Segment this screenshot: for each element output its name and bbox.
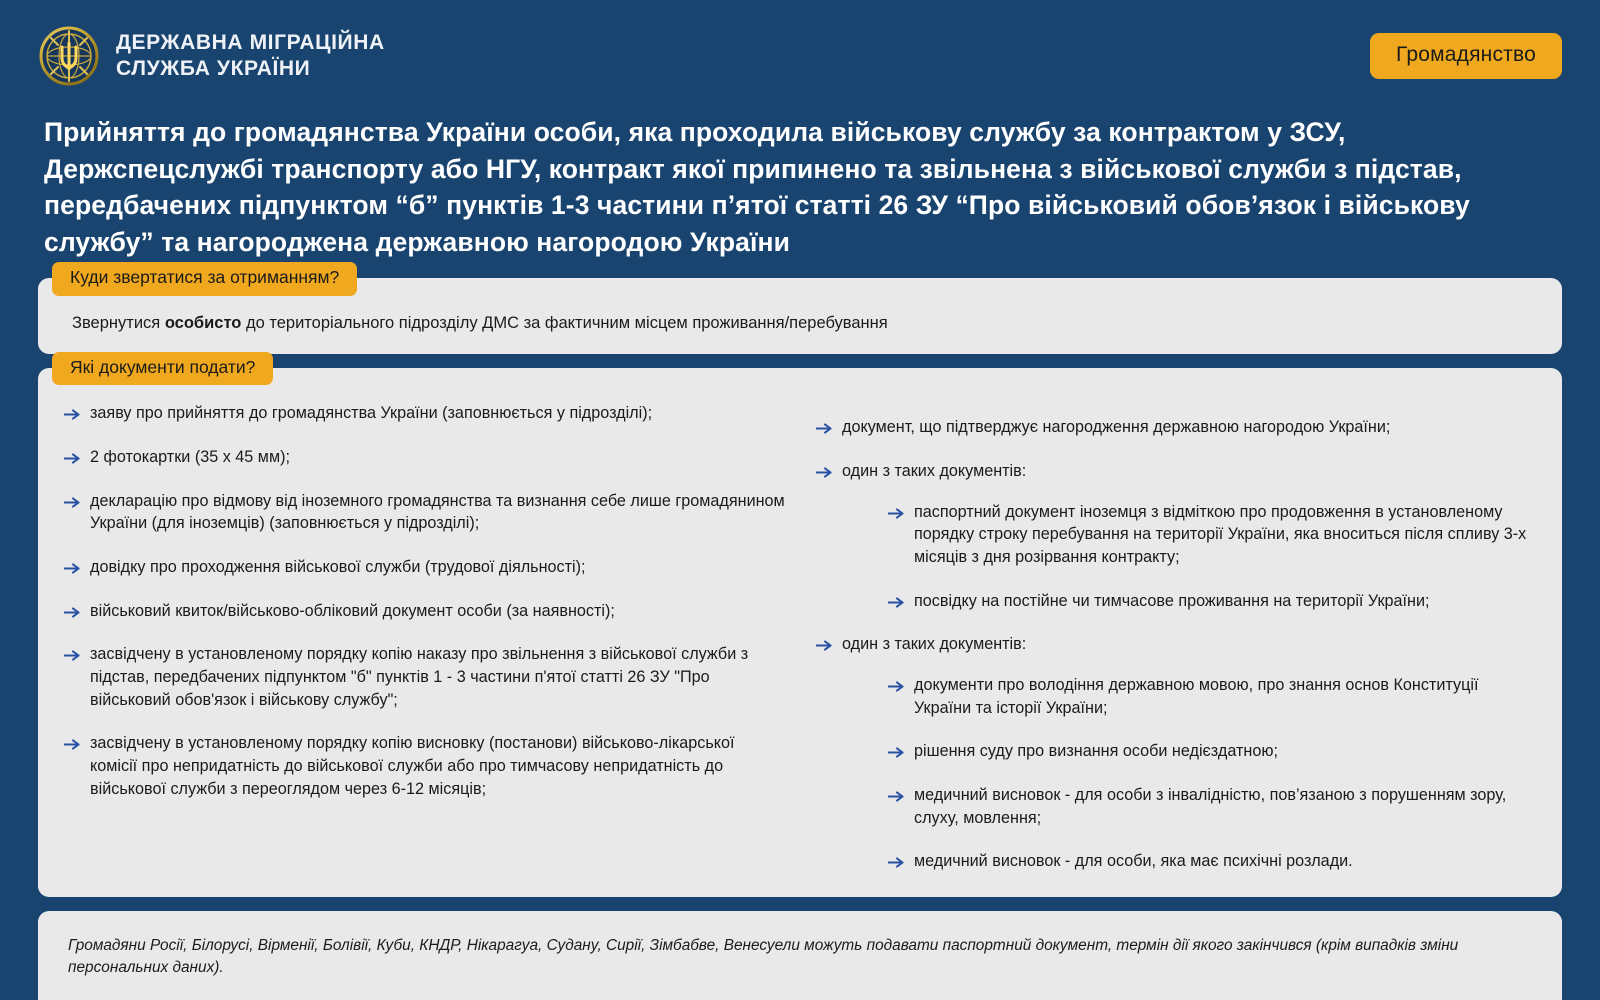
list-item-text: заяву про прийняття до громадянства Укра… [90,404,652,422]
page-title: Прийняття до громадянства України особи,… [38,108,1562,278]
org-name-line2: Служба України [116,56,385,82]
arrow-right-icon [64,497,81,508]
documents-group2-sublist: документи про володіння державною мовою,… [886,674,1538,873]
list-item-text: паспортний документ іноземця з відміткою… [914,503,1526,566]
group-label: один з таких документів: [842,462,1026,480]
list-item: посвідку на постійне чи тимчасове прожив… [886,590,1538,613]
list-item-group: один з таких документів: паспортний доку… [814,460,1538,612]
arrow-right-icon [888,597,905,608]
where-to-apply-panel: Куди звертатися за отриманням? Звернутис… [38,278,1562,354]
list-item: заяву про прийняття до громадянства Укра… [62,402,786,425]
group-label: один з таких документів: [842,635,1026,653]
list-item-text: довідку про проходження військової служб… [90,558,586,576]
arrow-right-icon [64,453,81,464]
list-item-text: засвідчену в установленому порядку копію… [90,645,748,708]
list-item-text: 2 фотокартки (35 x 45 мм); [90,448,290,466]
list-item-text: рішення суду про визнання особи недієзда… [914,742,1278,760]
arrow-right-icon [816,640,833,651]
where-to-apply-text: Звернутися особисто до територіального п… [72,312,1536,336]
list-item-text: декларацію про відмову від іноземного гр… [90,492,785,533]
list-item: декларацію про відмову від іноземного гр… [62,490,786,535]
where-text-after: до територіального підрозділу ДМС за фак… [241,314,887,332]
arrow-right-icon [816,467,833,478]
list-item: засвідчену в установленому порядку копію… [62,643,786,711]
arrow-right-icon [888,681,905,692]
documents-right-column: документ, що підтверджує нагородження де… [814,402,1538,873]
arrow-right-icon [64,739,81,750]
documents-right-list: документ, що підтверджує нагородження де… [814,416,1538,873]
list-item: засвідчену в установленому порядку копію… [62,732,786,800]
list-item: рішення суду про визнання особи недієзда… [886,740,1538,763]
org-name: Державна міграційна Служба України [116,30,385,81]
brand-block: Державна міграційна Служба України [38,25,385,87]
list-item-text: посвідку на постійне чи тимчасове прожив… [914,592,1430,610]
list-item-text: військовий квиток/військово-обліковий до… [90,602,615,620]
arrow-right-icon [888,857,905,868]
documents-left-column: заяву про прийняття до громадянства Укра… [62,402,786,873]
arrow-right-icon [64,563,81,574]
arrow-right-icon [64,409,81,420]
where-to-apply-badge: Куди звертатися за отриманням? [52,262,357,295]
list-item: медичний висновок - для особи, яка має п… [886,850,1538,873]
list-item: документи про володіння державною мовою,… [886,674,1538,719]
org-name-line1: Державна міграційна [116,31,385,54]
list-item: медичний висновок - для особи з інвалідн… [886,784,1538,829]
list-item: військовий квиток/військово-обліковий до… [62,600,786,623]
list-item: 2 фотокартки (35 x 45 мм); [62,446,786,469]
arrow-right-icon [888,508,905,519]
list-item-text: документ, що підтверджує нагородження де… [842,418,1390,436]
documents-panel: Які документи подати? заяву про прийнятт… [38,368,1562,897]
arrow-right-icon [64,650,81,661]
footnote-paragraph-1: Громадяни Росії, Білорусі, Вірменії, Бол… [68,935,1532,980]
documents-group1-sublist: паспортний документ іноземця з відміткою… [886,501,1538,613]
arrow-right-icon [888,747,905,758]
where-text-before: Звернутися [72,314,165,332]
list-item-text: документи про володіння державною мовою,… [914,676,1478,717]
list-item: документ, що підтверджує нагородження де… [814,416,1538,439]
where-text-bold: особисто [165,314,242,332]
documents-badge: Які документи подати? [52,352,273,385]
infographic-page: Державна міграційна Служба України Грома… [0,0,1600,1000]
list-item-group: один з таких документів: документи про в… [814,633,1538,873]
footnote-panel: Громадяни Росії, Білорусі, Вірменії, Бол… [38,911,1562,1000]
dms-ukraine-emblem-icon [38,25,100,87]
list-item-text: медичний висновок - для особи, яка має п… [914,852,1353,870]
page-header: Державна міграційна Служба України Грома… [38,0,1562,108]
category-badge[interactable]: Громадянство [1370,33,1562,79]
list-item-text: медичний висновок - для особи з інвалідн… [914,786,1506,827]
list-item: довідку про проходження військової служб… [62,556,786,579]
list-item: паспортний документ іноземця з відміткою… [886,501,1538,569]
documents-left-list: заяву про прийняття до громадянства Укра… [62,402,786,800]
arrow-right-icon [64,607,81,618]
arrow-right-icon [888,791,905,802]
arrow-right-icon [816,423,833,434]
list-item-text: засвідчену в установленому порядку копію… [90,734,735,797]
